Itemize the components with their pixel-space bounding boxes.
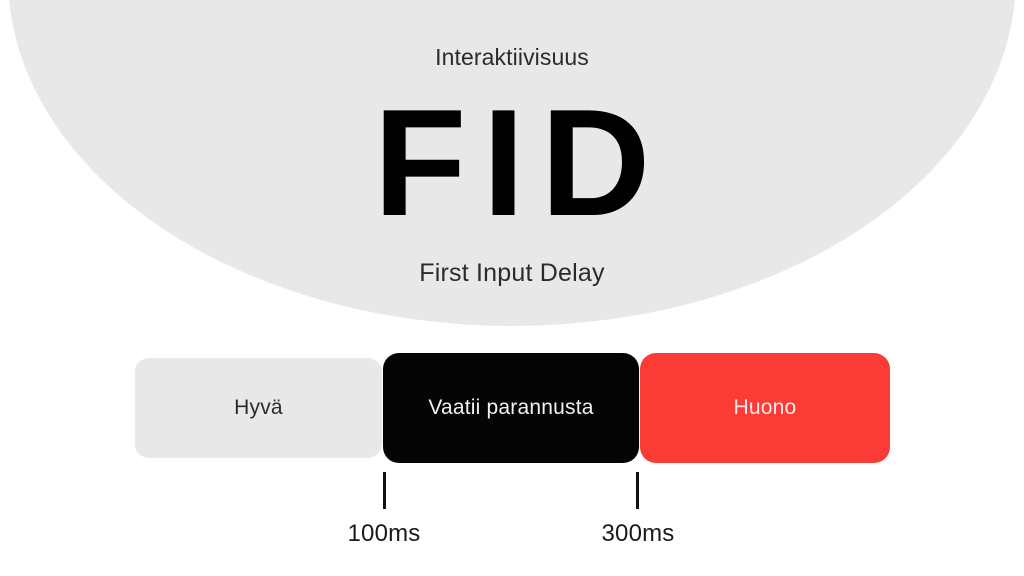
- band-poor: Huono: [640, 353, 890, 463]
- threshold-label-300ms: 300ms: [558, 518, 718, 550]
- band-poor-label: Huono: [734, 396, 797, 420]
- band-needs-improvement-label: Vaatii parannusta: [428, 396, 593, 420]
- threshold-tick-100ms: [383, 472, 386, 509]
- threshold-tick-300ms: [636, 472, 639, 509]
- band-needs-improvement: Vaatii parannusta: [383, 353, 639, 463]
- threshold-scale: Hyvä Vaatii parannusta Huono 100ms 300ms: [0, 0, 1024, 576]
- band-good-label: Hyvä: [234, 396, 283, 420]
- infographic-canvas: Interaktiivisuus FID First Input Delay H…: [0, 0, 1024, 576]
- band-good: Hyvä: [135, 358, 382, 458]
- threshold-label-100ms: 100ms: [304, 518, 464, 550]
